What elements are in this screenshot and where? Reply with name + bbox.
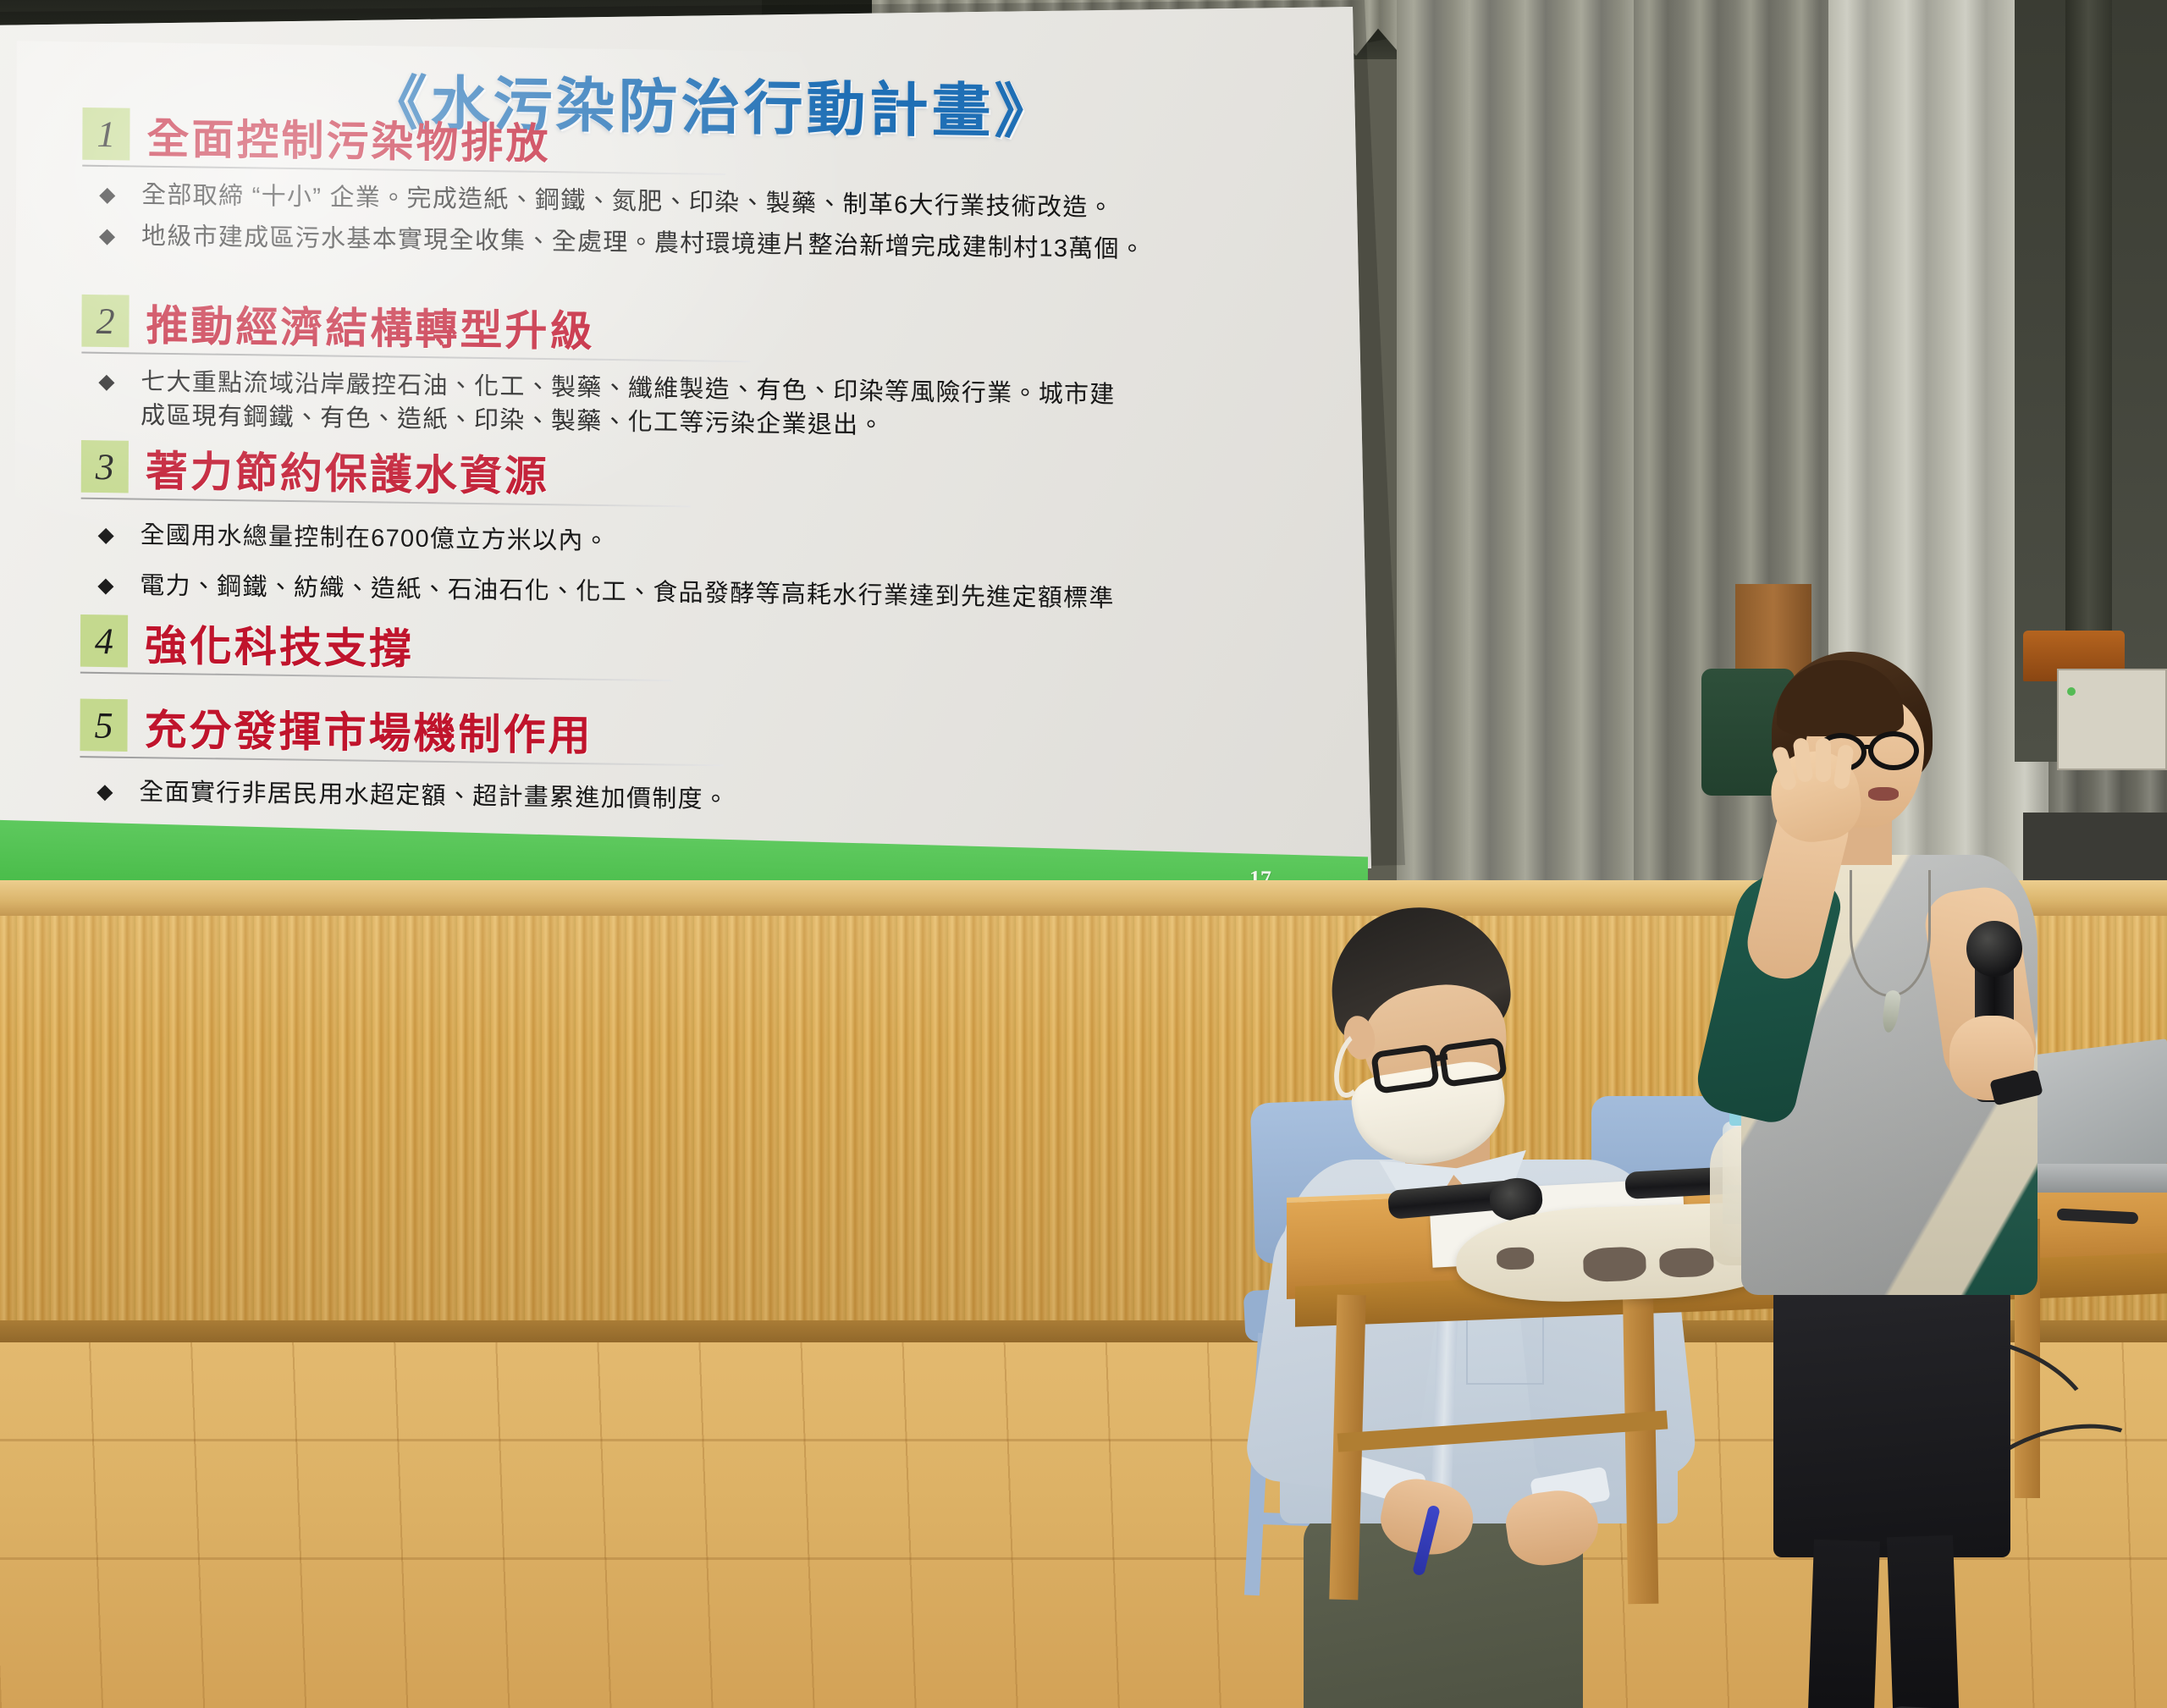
section-number-badge: 1 xyxy=(82,107,130,160)
diamond-bullet-icon: ◆ xyxy=(99,226,119,247)
cloth-pattern-spot xyxy=(1659,1248,1714,1278)
section-2-bullets: ◆ 七大重點流域沿岸嚴控石油、化工、製藥、纖維製造、有色、印染等風險行業。城市建… xyxy=(81,364,1232,447)
eyeglasses-bridge xyxy=(1865,745,1873,749)
lecture-hall-scene: 《水污染防治行動計畫》 1 全面控制污染物排放 ◆ 全部取締 “十小” 企業。完… xyxy=(0,0,2167,1708)
section-4-header: 4 強化科技支撐 xyxy=(80,614,1215,682)
section-number-badge: 4 xyxy=(80,614,128,667)
diamond-bullet-icon: ◆ xyxy=(97,525,118,546)
table-leg xyxy=(1623,1274,1659,1605)
leg xyxy=(1887,1535,1960,1708)
necklace xyxy=(1850,870,1931,997)
section-heading: 全面控制污染物排放 xyxy=(146,116,550,166)
eyeglasses-lens xyxy=(1370,1044,1440,1094)
eyeglasses-lens xyxy=(1438,1037,1508,1088)
diamond-bullet-icon: ◆ xyxy=(97,576,118,597)
section-number-badge: 5 xyxy=(80,698,127,751)
section-number-badge: 2 xyxy=(81,295,129,347)
section-1-bullets: ◆ 全部取締 “十小” 企業。完成造紙、鋼鐵、氮肥、印染、製藥、制革6大行業技術… xyxy=(82,178,1216,268)
diamond-bullet-icon: ◆ xyxy=(96,781,117,802)
section-heading: 強化科技支撐 xyxy=(145,623,414,671)
bullet-text: 地級市建成區污水基本實現全收集、全處理。農村環境連片整治新增完成建制村13萬個。 xyxy=(141,219,1145,267)
bullet-item: ◆ 全國用水總量控制在6700億立方米以內。 xyxy=(80,518,1215,567)
cloth-pattern-spot xyxy=(1497,1247,1535,1270)
presentation-slide: 《水污染防治行動計畫》 1 全面控制污染物排放 ◆ 全部取締 “十小” 企業。完… xyxy=(0,7,1371,918)
slide-section-1: 1 全面控制污染物排放 ◆ 全部取締 “十小” 企業。完成造紙、鋼鐵、氮肥、印染… xyxy=(82,107,1217,275)
diamond-bullet-icon: ◆ xyxy=(99,185,119,206)
section-5-header: 5 充分發揮市場機制作用 xyxy=(80,698,1231,766)
slide-section-3: 3 著力節約保護水資源 ◆ 全國用水總量控制在6700億立方米以內。 ◆ 電力、… xyxy=(80,440,1216,625)
slide-section-2: 2 推動經濟結構轉型升級 ◆ 七大重點流域沿岸嚴控石油、化工、製藥、纖維製造、有… xyxy=(81,295,1233,455)
bullet-item: ◆ 電力、鋼鐵、紡織、造紙、石油石化、化工、食品發酵等高耗水行業達到先進定額標準 xyxy=(80,568,1215,617)
trousers xyxy=(1773,1278,2010,1557)
structural-pillar xyxy=(2065,0,2112,643)
leg xyxy=(1807,1540,1880,1708)
bullet-text: 全國用水總量控制在6700億立方米以內。 xyxy=(140,519,609,559)
section-2-header: 2 推動經濟結構轉型升級 xyxy=(81,295,1232,362)
slide-container: 《水污染防治行動計畫》 1 全面控制污染物排放 ◆ 全部取締 “十小” 企業。完… xyxy=(0,7,1371,904)
mouth xyxy=(1868,787,1899,801)
bullet-item: ◆ 全面實行非居民用水超定額、超計畫累進加價制度。 xyxy=(80,774,1231,824)
microphone-head xyxy=(1966,921,2022,977)
bullet-item: ◆ 七大重點流域沿岸嚴控石油、化工、製藥、纖維製造、有色、印染等風險行業。城市建… xyxy=(81,364,1232,447)
bullet-text: 全部取締 “十小” 企業。完成造紙、鋼鐵、氮肥、印染、製藥、制革6大行業技術改造… xyxy=(141,179,1114,225)
bullet-text: 電力、鋼鐵、紡織、造紙、石油石化、化工、食品發酵等高耗水行業達到先進定額標準 xyxy=(140,569,1115,615)
bullet-text: 全面實行非居民用水超定額、超計畫累進加價制度。 xyxy=(139,775,729,817)
bullet-item: ◆ 地級市建成區污水基本實現全收集、全處理。農村環境連片整治新增完成建制村13萬… xyxy=(82,218,1216,267)
section-number-badge: 3 xyxy=(81,440,129,493)
finger xyxy=(1816,738,1831,782)
section-heading: 著力節約保護水資源 xyxy=(146,449,549,499)
shirt-pocket xyxy=(1466,1312,1544,1385)
cloth-pattern-spot xyxy=(1583,1247,1646,1283)
bullet-item: ◆ 全部取締 “十小” 企業。完成造紙、鋼鐵、氮肥、印染、製藥、制革6大行業技術… xyxy=(82,178,1216,227)
eyeglasses-lens xyxy=(1868,731,1919,770)
section-heading: 推動經濟結構轉型升級 xyxy=(146,303,594,353)
slide-section-4: 4 強化科技支撐 xyxy=(80,614,1215,689)
bullet-text: 七大重點流域沿岸嚴控石油、化工、製藥、纖維製造、有色、印染等風險行業。城市建成區… xyxy=(141,365,1139,446)
stage-curtain-panel xyxy=(1397,0,1651,906)
standing-speaker xyxy=(1723,652,2087,1708)
section-3-bullets: ◆ 全國用水總量控制在6700億立方米以內。 ◆ 電力、鋼鐵、紡織、造紙、石油石… xyxy=(80,518,1215,618)
section-heading: 充分發揮市場機制作用 xyxy=(144,708,593,758)
diamond-bullet-icon: ◆ xyxy=(98,372,119,393)
